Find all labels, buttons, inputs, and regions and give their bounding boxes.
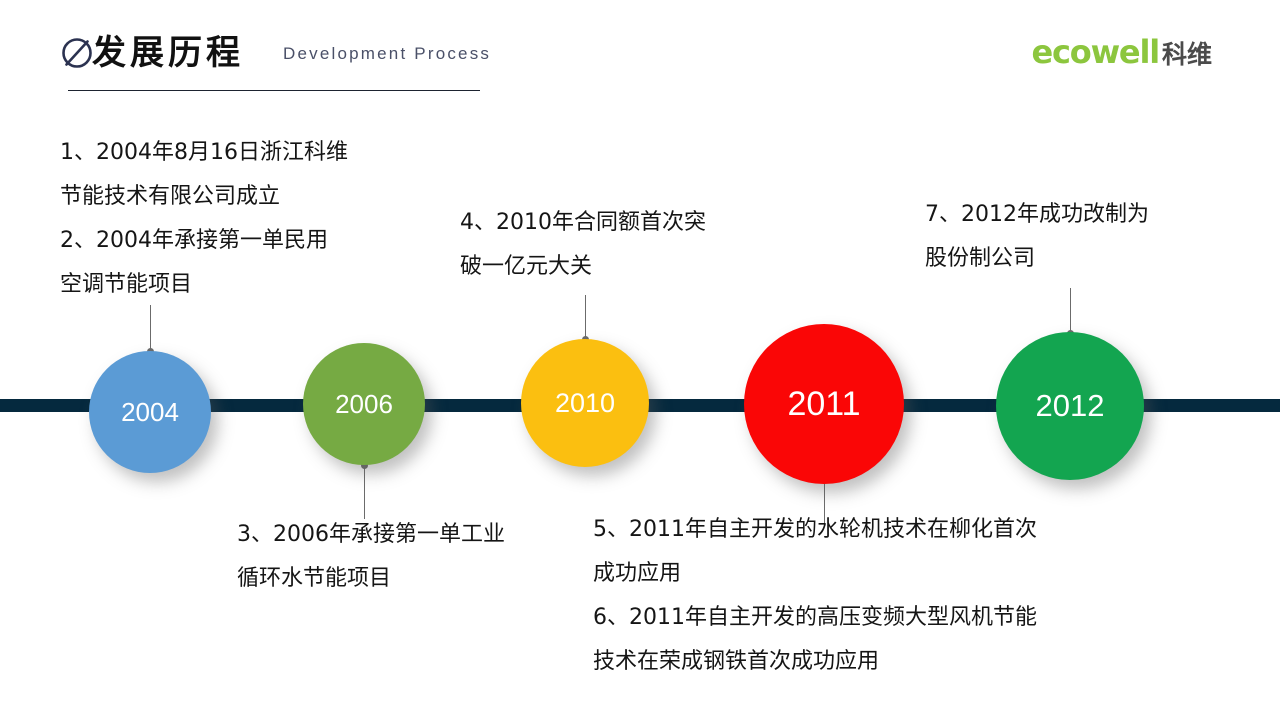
note-2011-line-1: 5、2011年自主开发的水轮机技术在柳化首次 [593, 508, 1037, 552]
note-2006-line-1: 3、2006年承接第一单工业 [237, 513, 505, 557]
note-2010: 4、2010年合同额首次突破一亿元大关 [460, 201, 706, 289]
note-2011-line-3: 6、2011年自主开发的高压变频大型风机节能 [593, 596, 1037, 640]
slide-canvas: 发展历程 Development Process ecowell 科维 2004… [0, 0, 1280, 720]
logo-wordmark: ecowell [1032, 36, 1159, 68]
milestone-circle-2011[interactable]: 2011 [744, 324, 904, 484]
slide-header: 发展历程 Development Process ecowell 科维 [0, 0, 1280, 110]
note-2012: 7、2012年成功改制为股份制公司 [925, 193, 1149, 281]
note-2012-line-1: 7、2012年成功改制为 [925, 193, 1149, 237]
ecowell-logo: ecowell 科维 [1032, 36, 1212, 70]
note-2010-line-2: 破一亿元大关 [460, 245, 706, 289]
page-title: 发展历程 [92, 31, 244, 75]
page-subtitle: Development Process [283, 44, 491, 64]
note-2004-line-2: 节能技术有限公司成立 [60, 175, 348, 219]
milestone-circle-2006[interactable]: 2006 [303, 343, 425, 465]
slashed-circle-icon [60, 36, 94, 70]
note-2004-line-3: 2、2004年承接第一单民用 [60, 219, 348, 263]
note-2004-line-1: 1、2004年8月16日浙江科维 [60, 131, 348, 175]
logo-chinese-name: 科维 [1162, 39, 1212, 71]
milestone-circle-2004[interactable]: 2004 [89, 351, 211, 473]
milestone-year-label: 2010 [555, 388, 615, 419]
connector-2012 [1070, 288, 1071, 333]
connector-2010 [585, 295, 586, 339]
milestone-year-label: 2004 [121, 397, 179, 428]
milestone-year-label: 2012 [1036, 388, 1105, 424]
note-2006: 3、2006年承接第一单工业循环水节能项目 [237, 513, 505, 601]
milestone-circle-2012[interactable]: 2012 [996, 332, 1144, 480]
note-2011-line-2: 成功应用 [593, 552, 1037, 596]
note-2011: 5、2011年自主开发的水轮机技术在柳化首次成功应用6、2011年自主开发的高压… [593, 508, 1037, 684]
note-2011-line-4: 技术在荣成钢铁首次成功应用 [593, 640, 1037, 684]
connector-2004 [150, 305, 151, 351]
milestone-circle-2010[interactable]: 2010 [521, 339, 649, 467]
note-2012-line-2: 股份制公司 [925, 237, 1149, 281]
milestone-year-label: 2006 [335, 389, 393, 420]
note-2004-line-4: 空调节能项目 [60, 263, 348, 307]
note-2004: 1、2004年8月16日浙江科维节能技术有限公司成立2、2004年承接第一单民用… [60, 131, 348, 307]
connector-2006 [364, 465, 365, 519]
milestone-year-label: 2011 [787, 385, 860, 424]
note-2010-line-1: 4、2010年合同额首次突 [460, 201, 706, 245]
header-divider [68, 90, 480, 91]
note-2006-line-2: 循环水节能项目 [237, 557, 505, 601]
